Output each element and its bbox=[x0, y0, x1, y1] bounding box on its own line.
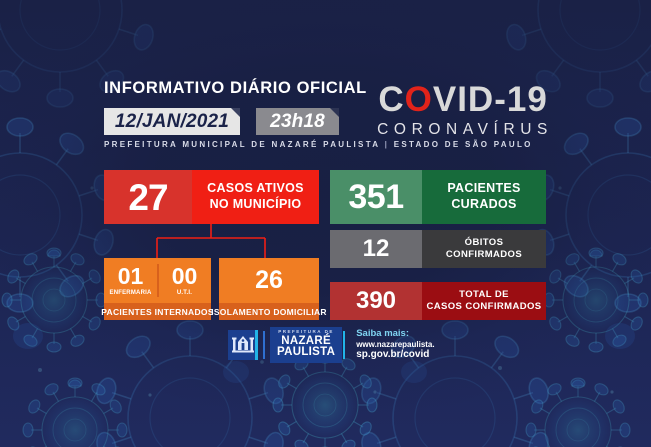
city-name-line2: PAULISTA bbox=[277, 347, 335, 359]
city-coat-of-arms-icon bbox=[228, 330, 258, 360]
deaths-label-line1: ÓBITOS bbox=[465, 237, 504, 249]
total-label: TOTAL DE CASOS CONFIRMADOS bbox=[422, 282, 546, 320]
corner-fold-icon bbox=[330, 108, 339, 117]
stat-home-isolation: 26 ISOLAMENTO DOMICILIAR bbox=[219, 258, 319, 320]
website-url-line1: www.nazarepaulista. bbox=[356, 340, 434, 349]
footer-bar: PREFEITURA DE NAZARÉ PAULISTA Saiba mais… bbox=[228, 328, 424, 362]
active-cases-label-line2: NO MUNICÍPIO bbox=[210, 197, 302, 213]
isolation-cell: 26 bbox=[219, 258, 319, 303]
covid-letter-o-red: O bbox=[405, 80, 433, 119]
covid-wordmark: COVID-19 bbox=[373, 82, 553, 117]
active-cases-value: 27 bbox=[104, 170, 192, 224]
website-block[interactable]: Saiba mais: www.nazarepaulista. sp.gov.b… bbox=[356, 329, 434, 361]
total-value: 390 bbox=[330, 282, 422, 320]
covid-wordmark-rest: VID-19 bbox=[433, 80, 548, 119]
stat-confirmed-deaths: 12 ÓBITOS CONFIRMADOS bbox=[330, 230, 546, 268]
subtitle-separator: | bbox=[385, 140, 390, 149]
isolation-footer-label: ISOLAMENTO DOMICILIAR bbox=[219, 303, 319, 320]
isolation-value: 26 bbox=[255, 268, 283, 293]
page-title: INFORMATIVO DIÁRIO OFICIAL bbox=[104, 79, 367, 98]
uti-label: U.T.I. bbox=[177, 290, 192, 296]
covid-logo: COVID-19 CORONAVÍRUS bbox=[373, 82, 553, 138]
coronavirus-subtitle: CORONAVÍRUS bbox=[373, 122, 553, 138]
active-cases-label-line1: CASOS ATIVOS bbox=[207, 181, 304, 197]
stat-enfermaria: 01 ENFERMARIA bbox=[104, 258, 157, 303]
total-label-line1: TOTAL DE bbox=[459, 289, 509, 301]
stat-hospitalized-group: 01 ENFERMARIA 00 U.T.I. PACIENTES INTERN… bbox=[104, 258, 211, 320]
stat-recovered-patients: 351 PACIENTES CURADOS bbox=[330, 170, 546, 224]
enfermaria-label: ENFERMARIA bbox=[110, 290, 152, 296]
hospitalized-footer-label: PACIENTES INTERNADOS bbox=[104, 303, 211, 320]
total-label-line2: CASOS CONFIRMADOS bbox=[427, 301, 542, 313]
deaths-label: ÓBITOS CONFIRMADOS bbox=[422, 230, 546, 268]
active-cases-label: CASOS ATIVOS NO MUNICÍPIO bbox=[192, 170, 319, 224]
recovered-label-line1: PACIENTES bbox=[447, 181, 520, 197]
recovered-label-line2: CURADOS bbox=[451, 197, 516, 213]
subtitle-municipality: PREFEITURA MUNICIPAL DE NAZARÉ PAULISTA bbox=[104, 140, 380, 149]
stat-active-cases: 27 CASOS ATIVOS NO MUNICÍPIO bbox=[104, 170, 319, 224]
uti-value: 00 bbox=[172, 265, 198, 288]
recovered-value: 351 bbox=[330, 170, 422, 224]
subtitle-state: ESTADO DE SÃO PAULO bbox=[394, 140, 533, 149]
footer-divider-cyan bbox=[343, 331, 345, 359]
corner-fold-icon bbox=[231, 108, 240, 117]
footer-divider bbox=[263, 331, 265, 359]
deaths-value: 12 bbox=[330, 230, 422, 268]
breakdown-connector bbox=[104, 224, 319, 258]
time-text: 23h18 bbox=[270, 111, 325, 133]
date-text: 12/JAN/2021 bbox=[115, 111, 229, 133]
deaths-label-line2: CONFIRMADOS bbox=[446, 249, 522, 261]
stat-total-confirmed: 390 TOTAL DE CASOS CONFIRMADOS bbox=[330, 282, 546, 320]
recovered-label: PACIENTES CURADOS bbox=[422, 170, 546, 224]
learn-more-label: Saiba mais: bbox=[356, 329, 434, 340]
date-badge: 12/JAN/2021 bbox=[104, 108, 240, 135]
website-url-line2: sp.gov.br/covid bbox=[356, 349, 434, 361]
time-badge: 23h18 bbox=[256, 108, 339, 135]
enfermaria-value: 01 bbox=[118, 265, 144, 288]
covid-letter-c: C bbox=[378, 80, 404, 119]
city-wordmark: PREFEITURA DE NAZARÉ PAULISTA bbox=[270, 327, 342, 363]
subtitle: PREFEITURA MUNICIPAL DE NAZARÉ PAULISTA … bbox=[104, 140, 533, 149]
stat-uti: 00 U.T.I. bbox=[158, 258, 211, 303]
